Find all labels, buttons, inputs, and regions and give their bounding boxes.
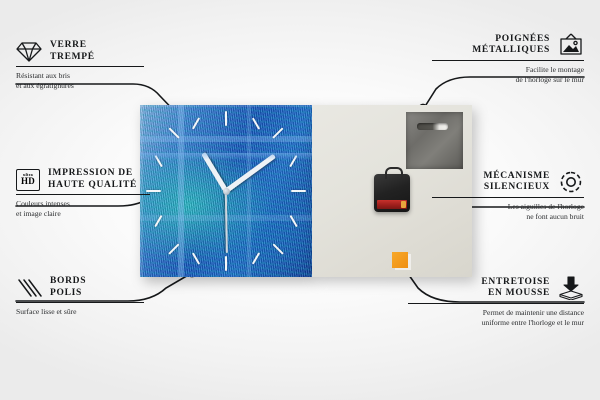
gear-icon <box>558 170 584 194</box>
callout-subtitle-line2: de l'horloge sur le mur <box>432 75 584 84</box>
callout-mecanisme-silencieux: MÉCANISME SILENCIEUX Les aiguilles de l'… <box>432 170 584 221</box>
callout-subtitle: Résistant aux bris <box>16 71 144 80</box>
hour-marker <box>272 243 284 255</box>
callout-subtitle: Surface lisse et sûre <box>16 307 144 316</box>
callout-subtitle-line2: ne font aucun bruit <box>432 212 584 221</box>
callout-title: BORDS <box>50 276 86 288</box>
callout-title-line2: HAUTE QUALITÉ <box>48 180 137 192</box>
callout-title: VERRE <box>50 40 95 52</box>
callout-rule <box>16 302 144 303</box>
callout-subtitle: Les aiguilles de l'horloge <box>432 202 584 211</box>
callout-rule <box>432 197 584 198</box>
hour-marker <box>154 155 163 167</box>
callout-rule <box>408 303 584 304</box>
hanger-keyhole-slot <box>417 123 448 130</box>
callout-bords-polis: BORDS POLIS Surface lisse et sûre <box>16 276 144 317</box>
callout-title-line2: EN MOUSSE <box>481 288 550 300</box>
callout-impression-haute-qualite: ultra HD IMPRESSION DE HAUTE QUALITÉ Cou… <box>16 168 150 218</box>
battery-terminal <box>401 201 406 208</box>
callout-subtitle-line2: et image claire <box>16 209 150 218</box>
callout-verre-trempe: VERRE TREMPÉ Résistant aux bris et aux é… <box>16 40 144 90</box>
hour-marker <box>252 117 261 129</box>
callout-title: ENTRETOISE <box>481 277 550 289</box>
hour-marker <box>252 252 261 264</box>
callout-poignees-metalliques: POIGNÉES MÉTALLIQUES Facilite le montage… <box>432 33 584 84</box>
clock-center-cap <box>223 188 230 195</box>
clock-face <box>140 105 312 277</box>
clock-mechanism <box>374 174 410 212</box>
hour-marker <box>289 155 298 167</box>
hour-marker <box>192 252 201 264</box>
ultra-hd-badge-icon: ultra HD <box>16 169 40 191</box>
infographic-canvas: VERRE TREMPÉ Résistant aux bris et aux é… <box>0 0 600 400</box>
foam-spacer-arrow-icon <box>558 276 584 300</box>
callout-subtitle: Couleurs intenses <box>16 199 150 208</box>
polished-edges-icon <box>16 277 42 299</box>
callout-title-line2: POLIS <box>50 288 86 300</box>
callout-title-line2: MÉTALLIQUES <box>472 45 550 57</box>
mechanism-hanging-loop <box>385 167 403 179</box>
diamond-icon <box>16 41 42 63</box>
callout-title: MÉCANISME <box>484 171 550 183</box>
hour-marker <box>291 190 306 192</box>
callout-rule <box>16 66 144 67</box>
callout-entretoise-en-mousse: ENTRETOISE EN MOUSSE Permet de maintenir… <box>408 276 584 327</box>
callout-subtitle-line2: et aux égratignures <box>16 81 144 90</box>
callout-title: POIGNÉES <box>472 34 550 46</box>
badge-text-hd: HD <box>21 177 35 186</box>
callout-subtitle-line2: uniforme entre l'horloge et le mur <box>408 318 584 327</box>
clock-second-hand <box>225 191 228 253</box>
clock-hour-hand <box>201 152 228 192</box>
callout-title: IMPRESSION DE <box>48 168 137 180</box>
hour-marker <box>225 111 227 126</box>
hour-marker <box>192 117 201 129</box>
callout-subtitle: Facilite le montage <box>432 65 584 74</box>
callout-title-line2: SILENCIEUX <box>484 182 550 194</box>
callout-rule <box>16 194 150 195</box>
callout-rule <box>432 60 584 61</box>
hour-marker <box>225 256 227 271</box>
wall-hanger-frame-icon <box>558 33 584 57</box>
hanger-plate <box>406 112 463 169</box>
battery <box>377 200 407 209</box>
foam-spacer <box>392 252 408 268</box>
callout-subtitle: Permet de maintenir une distance <box>408 308 584 317</box>
callout-title-line2: TREMPÉ <box>50 52 95 64</box>
